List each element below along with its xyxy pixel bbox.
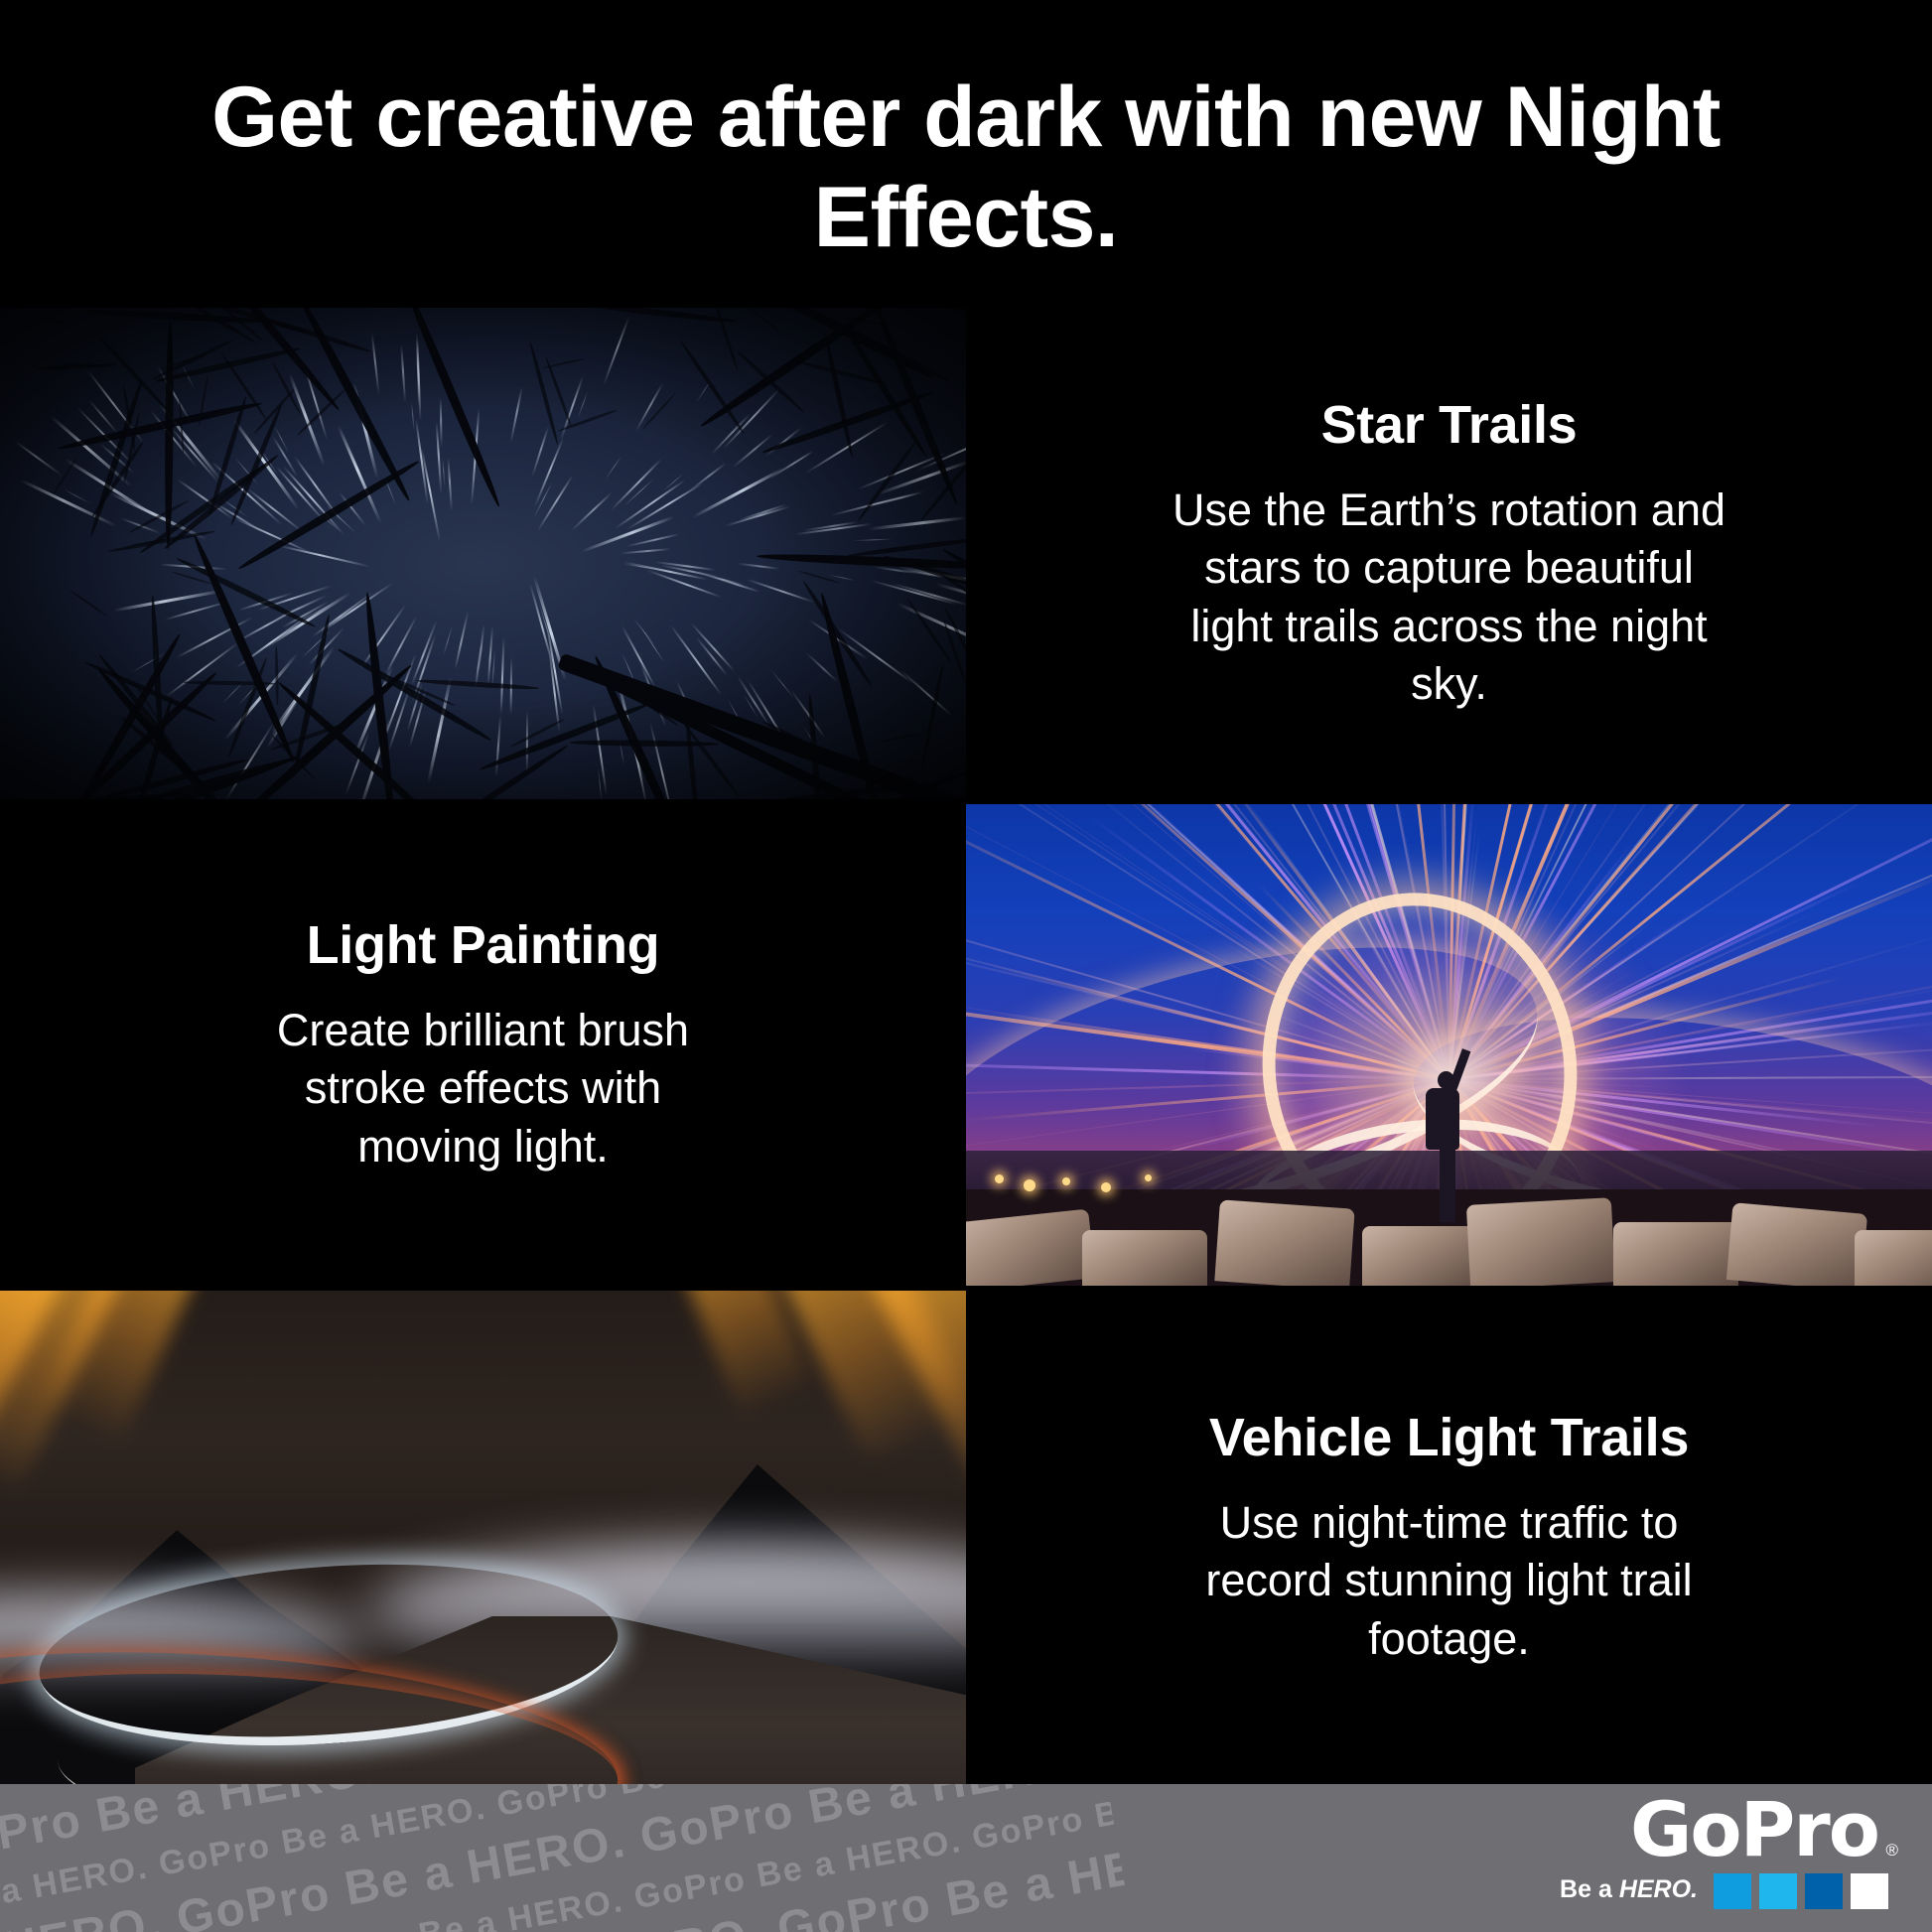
gopro-tagline: Be a HERO. [1560,1877,1698,1902]
vehicle-light-trails-title: Vehicle Light Trails [1209,1407,1689,1468]
light-painting-scene [966,804,1932,1286]
page-title: Get creative after dark with new Night E… [0,68,1932,269]
star-trails-title: Star Trails [1321,394,1578,456]
gopro-logo: GoPro ® Be a HERO. [1551,1796,1908,1920]
vehicle-light-trails-caption: Vehicle Light Trails Use night-time traf… [966,1291,1932,1784]
light-painting-caption: Light Painting Create brilliant brush st… [0,804,966,1286]
vehicle-trails-scene [0,1291,966,1784]
vignette [0,308,966,799]
light-painting-image [966,804,1932,1286]
star-trails-body: Use the Earth’s rotation and stars to ca… [1172,482,1727,714]
swatch-3 [1805,1873,1843,1909]
star-trails-scene [0,308,966,799]
effects-grid: Star Trails Use the Earth’s rotation and… [0,308,1932,1784]
poster-root: Get creative after dark with new Night E… [0,0,1932,1932]
footer-bar: GoPro Be a HERO. GoPro Be a HERO. GoPro … [0,1784,1932,1932]
vehicle-light-trails-image [0,1291,966,1784]
star-trails-caption: Star Trails Use the Earth’s rotation and… [966,308,1932,799]
tagline-brand: HERO. [1619,1875,1698,1903]
star-trails-image [0,308,966,799]
registered-mark-icon: ® [1885,1842,1898,1859]
gopro-watermark-pattern: GoPro Be a HERO. GoPro Be a HERO. GoPro … [0,1784,1129,1932]
swatch-4 [1851,1873,1888,1909]
light-painting-title: Light Painting [307,914,660,976]
swatch-1 [1714,1873,1751,1909]
vehicle-light-trails-body: Use night-time traffic to record stunnin… [1181,1494,1718,1669]
swatch-2 [1759,1873,1797,1909]
gopro-wordmark: GoPro [1630,1792,1878,1867]
light-painting-body: Create brilliant brush stroke effects wi… [235,1002,732,1176]
tagline-prefix: Be a [1560,1875,1619,1903]
